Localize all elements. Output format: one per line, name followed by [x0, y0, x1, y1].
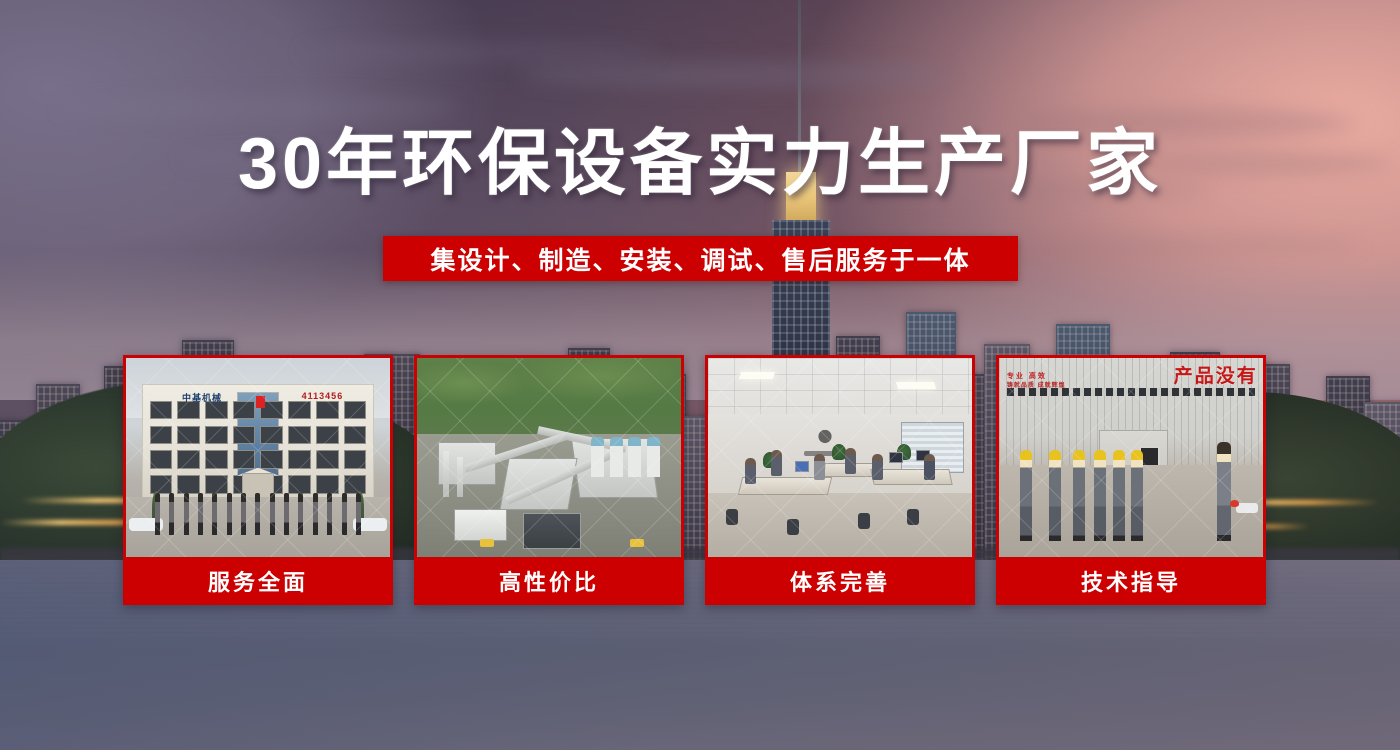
card-caption: 服务全面 [126, 557, 390, 605]
card-caption: 体系完善 [708, 557, 972, 605]
feature-card[interactable]: 产品没有 专业 高效 铸就品质 成就辉煌 技术指导 [996, 355, 1266, 605]
feature-card[interactable]: 体系完善 [705, 355, 975, 605]
card-caption: 技术指导 [999, 557, 1263, 605]
factory-wall-text: 产品没有 [1174, 361, 1258, 388]
photo-office-interior [708, 358, 972, 557]
cloud [520, 62, 950, 88]
cloud [60, 96, 460, 120]
photo-industrial-plant-aerial [417, 358, 681, 557]
feature-card[interactable]: 中基机械 4113456 服务全面 [123, 355, 393, 605]
photo-workers-lineup: 产品没有 专业 高效 铸就品质 成就辉煌 [999, 358, 1263, 557]
feature-card[interactable]: 高性价比 [414, 355, 684, 605]
building-phone-text: 4113456 [302, 391, 344, 401]
subtitle-text: 集设计、制造、安装、调试、售后服务于一体 [430, 241, 970, 277]
page-title: 30年环保设备实力生产厂家 [0, 128, 1400, 200]
building-sign-text: 中基机械 [182, 391, 222, 404]
red-helmet-icon [1230, 500, 1239, 507]
feature-card-row: 中基机械 4113456 服务全面 [123, 355, 1278, 605]
promo-banner: 30年环保设备实力生产厂家 集设计、制造、安装、调试、售后服务于一体 中基 [0, 0, 1400, 750]
photo-company-headquarters: 中基机械 4113456 [126, 358, 390, 557]
subtitle-banner: 集设计、制造、安装、调试、售后服务于一体 [383, 236, 1018, 281]
card-caption: 高性价比 [417, 557, 681, 605]
cloud [300, 42, 660, 62]
